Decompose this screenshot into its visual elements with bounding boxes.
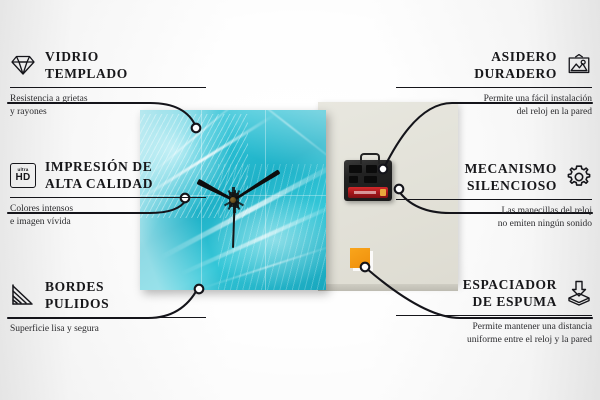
diamond-icon [10,52,36,78]
clock-tick [234,199,308,201]
divider [10,87,206,89]
feature-title-line1: ESPACIADOR [463,277,557,292]
mechanism-hanger-icon [360,153,380,164]
ultra-hd-icon: ultra HD [10,162,36,188]
feature-desc-line2: uniforme entre el reloj y la pared [467,335,592,345]
feature-desc-line1: Superficie lisa y segura [10,324,99,334]
divider [396,199,592,201]
feature-title-line1: IMPRESIÓN DE [45,159,152,174]
feature-desc-line2: del reloj en la pared [517,107,592,117]
feature-desc-line1: Colores intensos [10,204,73,214]
feature-desc-line2: e imagen vívida [10,217,71,227]
feature-mecanismo-silencioso: MECANISMO SILENCIOSO Las manecillas del … [396,160,592,231]
infographic-canvas: VIDRIO TEMPLADO Resistencia a grietas y … [0,0,600,400]
feature-title-line1: BORDES [45,279,104,294]
feature-title: MECANISMO SILENCIOSO [465,160,557,195]
foam-spacer [350,248,370,268]
feature-header: VIDRIO TEMPLADO [10,48,206,83]
feature-title: IMPRESIÓN DE ALTA CALIDAD [45,158,153,193]
divider [396,315,592,317]
feature-description: Colores intensos e imagen vívida [10,203,206,229]
feature-title-line2: PULIDOS [45,296,109,311]
feature-description: Resistencia a grietas y rayones [10,93,206,119]
mechanism-detail [349,165,362,173]
feature-description: Superficie lisa y segura [10,323,206,336]
clock-tick [233,126,235,200]
feature-espaciador-de-espuma: ESPACIADOR DE ESPUMA Permite mantener un… [396,276,592,347]
feature-asidero-duradero: ASIDERO DURADERO Permite una fácil insta… [396,48,592,119]
feature-title: ASIDERO DURADERO [474,48,557,83]
clock-mechanism [344,160,392,201]
feature-title: VIDRIO TEMPLADO [45,48,128,83]
ultra-hd-large-text: HD [15,173,30,183]
feature-title: ESPACIADOR DE ESPUMA [463,276,557,311]
arrow-down-pad-icon [566,280,592,306]
divider [10,317,206,319]
feature-header: ESPACIADOR DE ESPUMA [396,276,592,311]
feature-desc-line2: y rayones [10,107,47,117]
mechanism-detail [366,165,377,173]
feature-title-line1: VIDRIO [45,49,99,64]
gear-icon [566,164,592,190]
clock-center-pin [230,197,236,203]
feature-description: Permite mantener una distancia uniforme … [396,321,592,347]
feature-title: BORDES PULIDOS [45,278,109,313]
feature-title-line2: ALTA CALIDAD [45,176,153,191]
feature-impresion-alta-calidad: ultra HD IMPRESIÓN DE ALTA CALIDAD Color… [10,158,206,229]
feature-desc-line1: Permite mantener una distancia [473,322,593,332]
feature-title-line2: DE ESPUMA [472,294,557,309]
feature-bordes-pulidos: BORDES PULIDOS Superficie lisa y segura [10,278,206,336]
feature-header: MECANISMO SILENCIOSO [396,160,592,195]
feature-desc-line1: Las manecillas del reloj [502,206,592,216]
feature-title-line2: SILENCIOSO [467,178,557,193]
divider [396,87,592,89]
feature-description: Permite una fácil instalación del reloj … [396,93,592,119]
mechanism-detail [349,176,358,183]
feature-header: ASIDERO DURADERO [396,48,592,83]
divider [10,197,206,199]
feature-description: Las manecillas del reloj no emiten ningú… [396,205,592,231]
feature-desc-line1: Resistencia a grietas [10,94,88,104]
feature-vidrio-templado: VIDRIO TEMPLADO Resistencia a grietas y … [10,48,206,119]
battery [348,187,388,198]
feature-desc-line2: no emiten ningún sonido [498,219,592,229]
mechanism-detail [364,176,377,183]
feature-desc-line1: Permite una fácil instalación [484,94,592,104]
polished-edges-icon [10,282,36,308]
feature-title-line1: ASIDERO [491,49,557,64]
feature-title-line2: TEMPLADO [45,66,128,81]
feature-title-line1: MECANISMO [465,161,557,176]
feature-header: ultra HD IMPRESIÓN DE ALTA CALIDAD [10,158,206,193]
feature-header: BORDES PULIDOS [10,278,206,313]
picture-frame-hanger-icon [566,52,592,78]
feature-title-line2: DURADERO [474,66,557,81]
